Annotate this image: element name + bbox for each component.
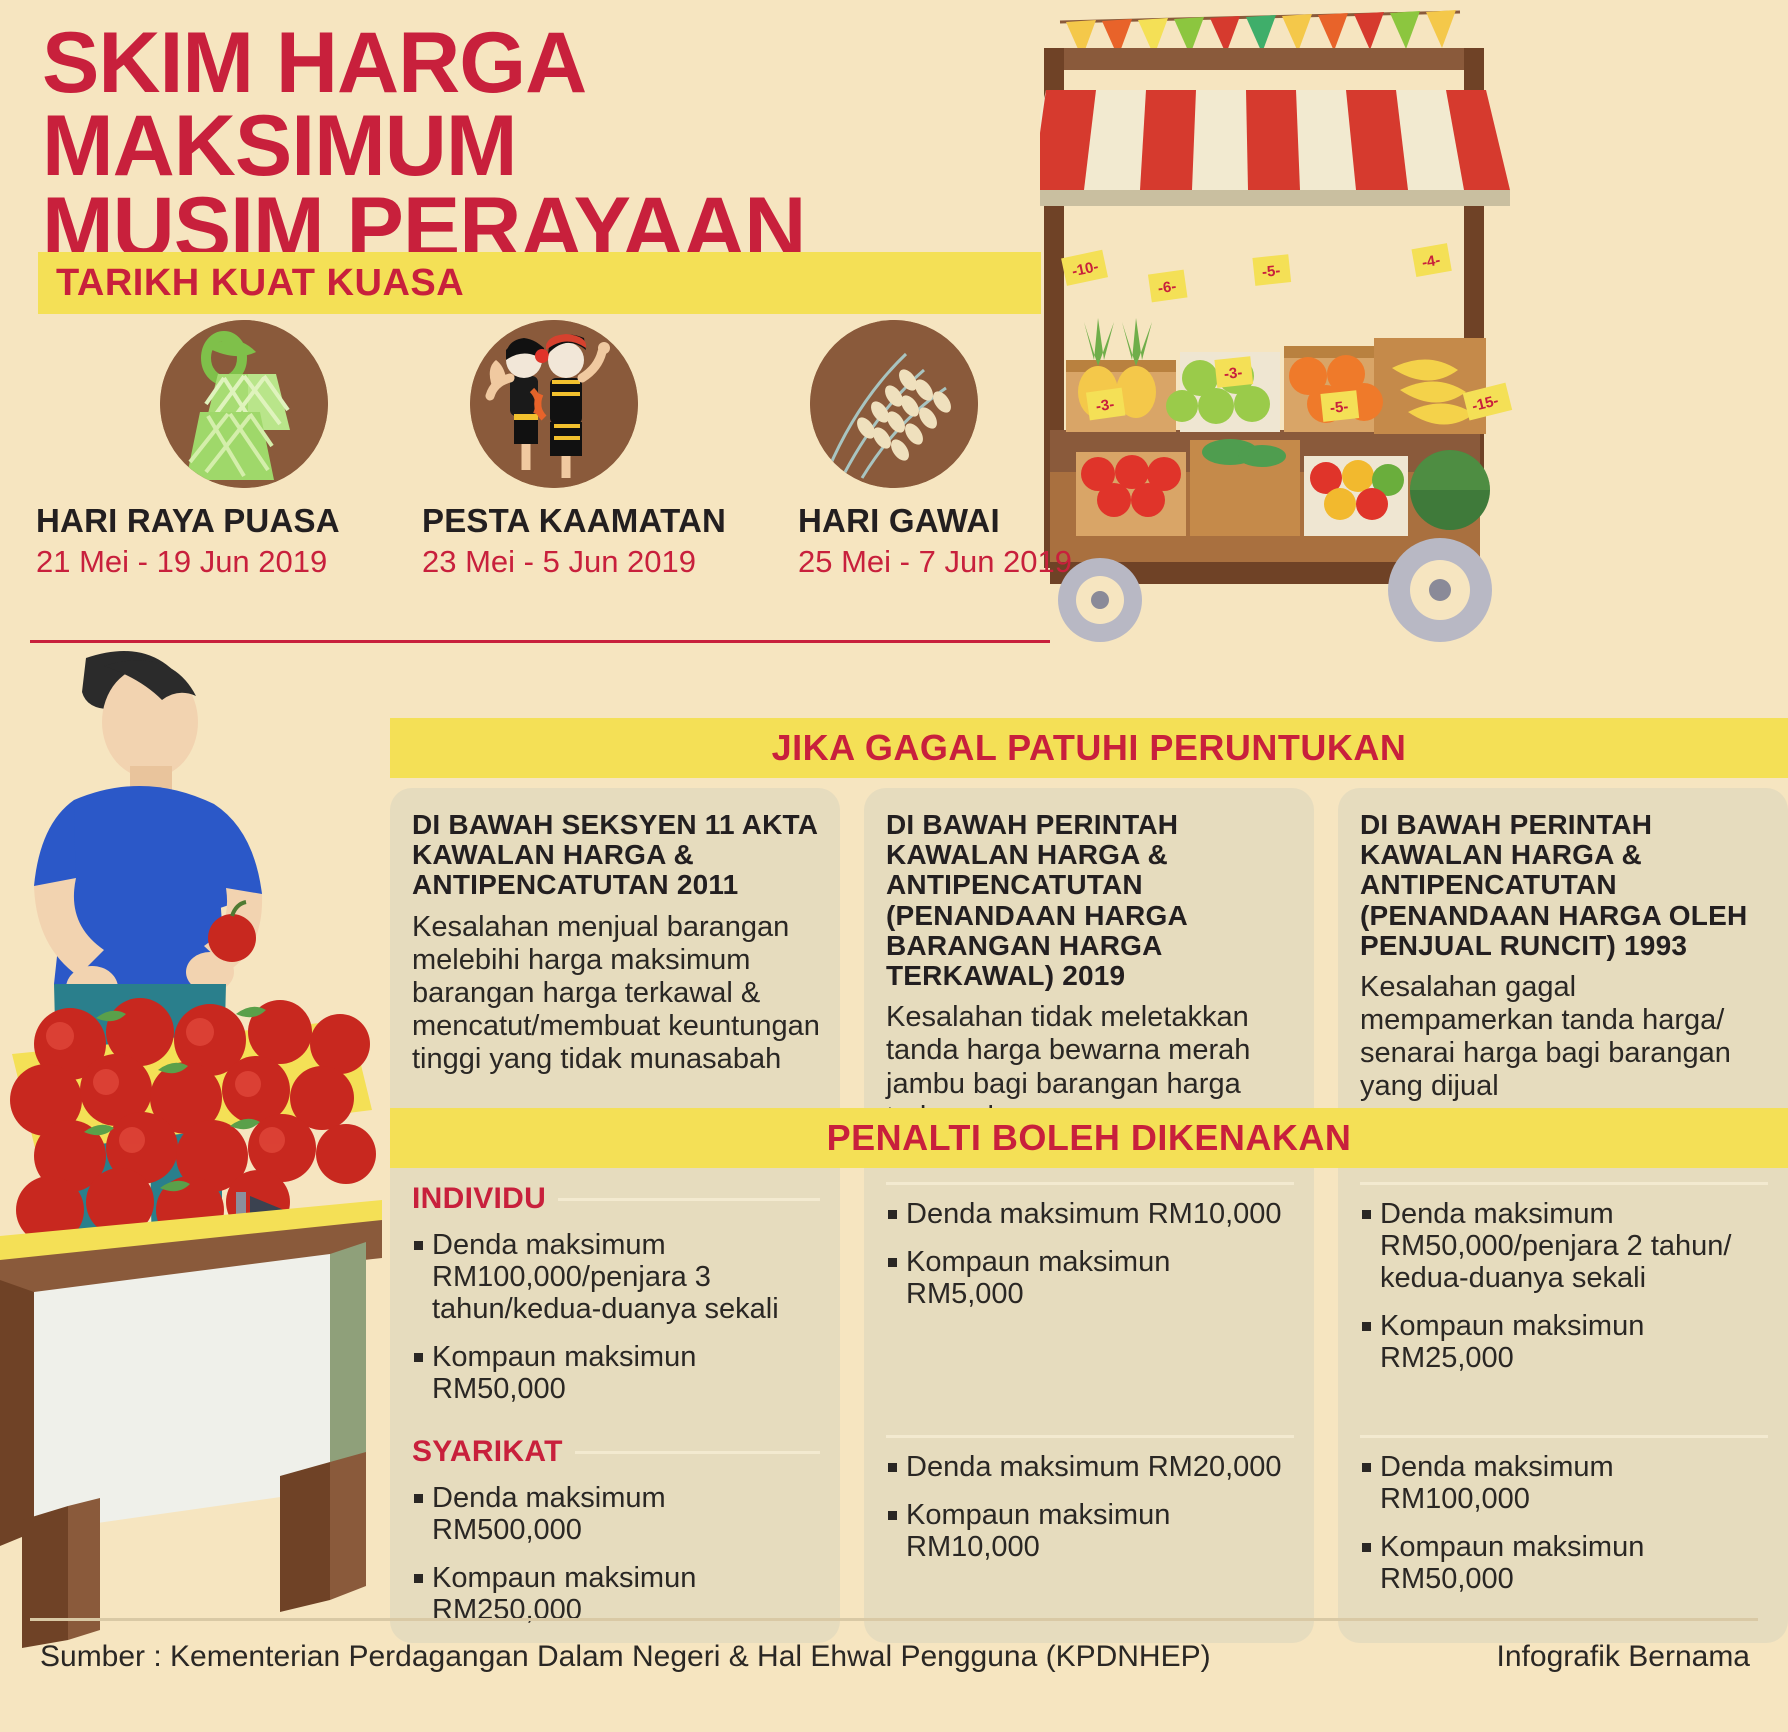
subhead-rule bbox=[886, 1435, 1294, 1438]
penalty-item: Denda maksimum RM100,000/penjara 3 tahun… bbox=[412, 1230, 820, 1326]
subhead-rule bbox=[558, 1198, 820, 1201]
penalty-list: Denda maksimum RM100,000/penjara 3 tahun… bbox=[412, 1230, 820, 1405]
law-heading: DI BAWAH PERINTAH KAWALAN HARGA & ANTIPE… bbox=[1360, 810, 1768, 961]
penalty-list: Denda maksimum RM10,000 Kompaun maksimun… bbox=[886, 1199, 1294, 1311]
penalty-column: Denda maksimum RM100,000 Kompaun maksimu… bbox=[1338, 1421, 1788, 1643]
penalty-item: Kompaun maksimun RM50,000 bbox=[412, 1342, 820, 1406]
svg-text:-5-: -5- bbox=[1261, 262, 1281, 281]
non-compliance-banner-label: JIKA GAGAL PATUHI PERUNTUKAN bbox=[772, 727, 1407, 769]
penalty-individu-section: INDIVIDU Denda maksimum RM100,000/penjar… bbox=[390, 1168, 1788, 1421]
penalty-column: SYARIKAT Denda maksimum RM500,000 Kompau… bbox=[390, 1421, 840, 1643]
penalty-list: Denda maksimum RM500,000 Kompaun maksimu… bbox=[412, 1483, 820, 1627]
penalty-column: Denda maksimum RM10,000 Kompaun maksimun… bbox=[864, 1168, 1314, 1421]
penalty-list: Denda maksimum RM50,000/penjara 2 tahun/… bbox=[1360, 1199, 1768, 1374]
festival-name: HARI GAWAI bbox=[798, 502, 1050, 540]
svg-text:-4-: -4- bbox=[1421, 252, 1442, 272]
penalty-item: Kompaun maksimun RM5,000 bbox=[886, 1247, 1294, 1311]
penalty-banner-label: PENALTI BOLEH DIKENAKAN bbox=[827, 1117, 1352, 1159]
festival-item-hari-gawai: HARI GAWAI 25 Mei - 7 Jun 2019 bbox=[710, 320, 1050, 610]
penalty-subhead-label: INDIVIDU bbox=[412, 1182, 546, 1216]
penalty-item: Kompaun maksimun RM50,000 bbox=[1360, 1532, 1768, 1596]
penalty-item: Kompaun maksimun RM25,000 bbox=[1360, 1311, 1768, 1375]
penalty-subhead-spacer bbox=[1360, 1421, 1768, 1438]
festival-name: HARI RAYA PUASA bbox=[36, 502, 370, 540]
penalty-subhead-spacer bbox=[886, 1168, 1294, 1185]
law-body: Kesalahan gagal mempamerkan tanda harga/… bbox=[1360, 971, 1768, 1103]
subhead-rule bbox=[886, 1182, 1294, 1185]
footer-divider bbox=[30, 1618, 1758, 1621]
law-heading: DI BAWAH SEKSYEN 11 AKTA KAWALAN HARGA &… bbox=[412, 810, 820, 901]
man-with-apples-illustration bbox=[0, 640, 400, 1650]
festival-list: HARI RAYA PUASA 21 Mei - 19 Jun 2019 bbox=[30, 320, 1050, 610]
penalty-subhead-individu: INDIVIDU bbox=[412, 1168, 820, 1216]
penalty-column: Denda maksimum RM20,000 Kompaun maksimun… bbox=[864, 1421, 1314, 1643]
penalty-column: INDIVIDU Denda maksimum RM100,000/penjar… bbox=[390, 1168, 840, 1421]
subhead-rule bbox=[1360, 1435, 1768, 1438]
penalty-item: Denda maksimum RM20,000 bbox=[886, 1452, 1294, 1484]
svg-text:-3-: -3- bbox=[1223, 364, 1243, 383]
subhead-rule bbox=[575, 1451, 820, 1454]
penalty-subhead-spacer bbox=[886, 1421, 1294, 1438]
footer: Sumber : Kementerian Perdagangan Dalam N… bbox=[40, 1640, 1750, 1674]
festival-name: PESTA KAAMATAN bbox=[422, 502, 710, 540]
footer-source: Sumber : Kementerian Perdagangan Dalam N… bbox=[40, 1640, 1211, 1674]
kadazan-dancers-icon bbox=[470, 320, 638, 488]
penalty-subhead-label: SYARIKAT bbox=[412, 1435, 563, 1469]
penalty-item: Denda maksimum RM100,000 bbox=[1360, 1452, 1768, 1516]
festival-date: 21 Mei - 19 Jun 2019 bbox=[36, 544, 370, 580]
penalty-item: Denda maksimum RM10,000 bbox=[886, 1199, 1294, 1231]
footer-credit: Infografik Bernama bbox=[1497, 1640, 1750, 1674]
title-line-1: SKIM HARGA MAKSIMUM bbox=[42, 15, 583, 194]
penalty-item: Kompaun maksimun RM10,000 bbox=[886, 1500, 1294, 1564]
penalty-list: Denda maksimum RM20,000 Kompaun maksimun… bbox=[886, 1452, 1294, 1564]
law-card: DI BAWAH PERINTAH KAWALAN HARGA & ANTIPE… bbox=[1338, 788, 1788, 1108]
svg-text:-5-: -5- bbox=[1329, 398, 1349, 417]
svg-text:-3-: -3- bbox=[1095, 396, 1116, 415]
penalty-list: Denda maksimum RM100,000 Kompaun maksimu… bbox=[1360, 1452, 1768, 1596]
festival-date: 23 Mei - 5 Jun 2019 bbox=[422, 544, 710, 580]
ketupat-icon bbox=[160, 320, 328, 488]
svg-text:-6-: -6- bbox=[1157, 278, 1178, 297]
penalty-item: Denda maksimum RM500,000 bbox=[412, 1483, 820, 1547]
law-card: DI BAWAH PERINTAH KAWALAN HARGA & ANTIPE… bbox=[864, 788, 1314, 1108]
penalty-banner: PENALTI BOLEH DIKENAKAN bbox=[390, 1108, 1788, 1168]
festival-item-pesta-kaamatan: PESTA KAAMATAN 23 Mei - 5 Jun 2019 bbox=[370, 320, 710, 610]
penalty-column: Denda maksimum RM50,000/penjara 2 tahun/… bbox=[1338, 1168, 1788, 1421]
festival-item-hari-raya: HARI RAYA PUASA 21 Mei - 19 Jun 2019 bbox=[30, 320, 370, 610]
non-compliance-banner: JIKA GAGAL PATUHI PERUNTUKAN bbox=[390, 718, 1788, 778]
dates-banner: TARIKH KUAT KUASA bbox=[38, 252, 1041, 314]
penalty-item: Denda maksimum RM50,000/penjara 2 tahun/… bbox=[1360, 1199, 1768, 1295]
law-card: DI BAWAH SEKSYEN 11 AKTA KAWALAN HARGA &… bbox=[390, 788, 840, 1108]
paddy-rice-icon bbox=[810, 320, 978, 488]
festival-date: 25 Mei - 7 Jun 2019 bbox=[798, 544, 1050, 580]
infographic-page: SKIM HARGA MAKSIMUM MUSIM PERAYAAN bbox=[0, 0, 1788, 1732]
market-stall-illustration: -10- -6- -5- -4- -3- -3- -5- -15- bbox=[1040, 0, 1788, 700]
page-title: SKIM HARGA MAKSIMUM MUSIM PERAYAAN bbox=[42, 22, 1062, 270]
penalty-subhead-syarikat: SYARIKAT bbox=[412, 1421, 820, 1469]
law-heading: DI BAWAH PERINTAH KAWALAN HARGA & ANTIPE… bbox=[886, 810, 1294, 991]
penalty-grid: INDIVIDU Denda maksimum RM100,000/penjar… bbox=[390, 1168, 1788, 1608]
penalty-subhead-spacer bbox=[1360, 1168, 1768, 1185]
law-columns: DI BAWAH SEKSYEN 11 AKTA KAWALAN HARGA &… bbox=[390, 788, 1788, 1108]
penalty-syarikat-section: SYARIKAT Denda maksimum RM500,000 Kompau… bbox=[390, 1421, 1788, 1643]
subhead-rule bbox=[1360, 1182, 1768, 1185]
dates-banner-label: TARIKH KUAT KUASA bbox=[56, 262, 464, 305]
law-body: Kesalahan menjual barangan melebihi harg… bbox=[412, 911, 820, 1076]
